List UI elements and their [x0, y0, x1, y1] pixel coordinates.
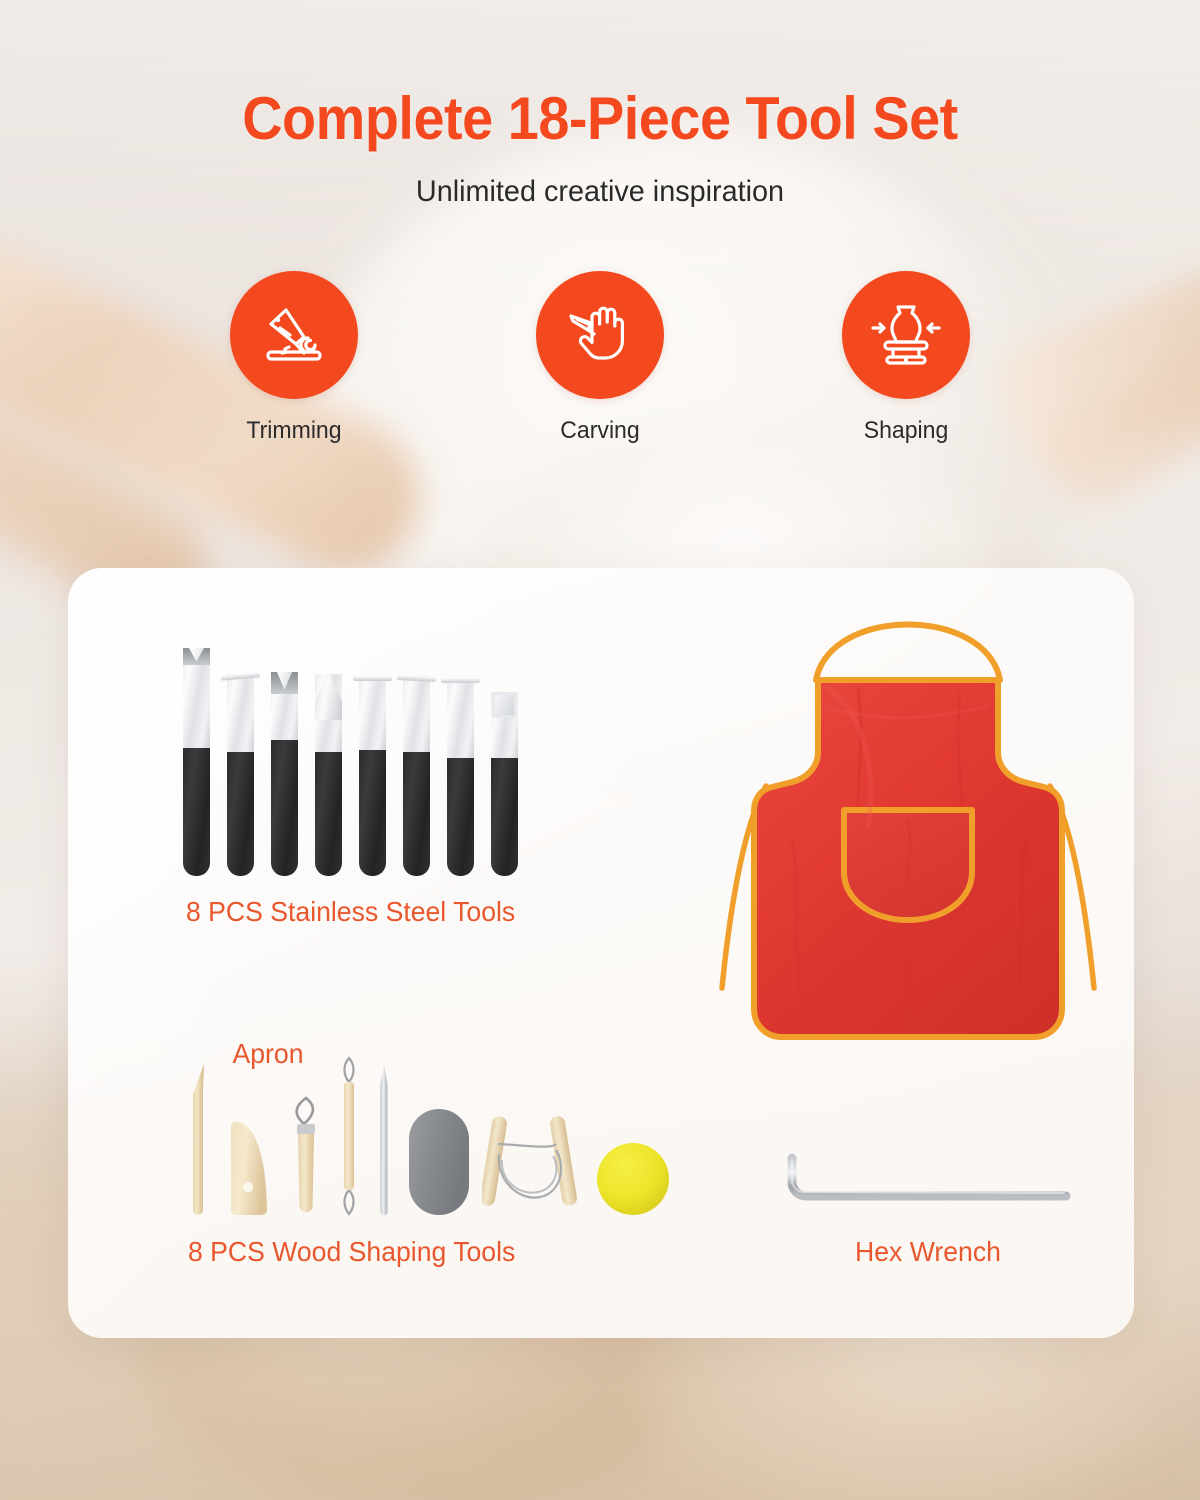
wood-tool-yellow-round-sponge — [596, 1142, 670, 1221]
tool-handle — [227, 752, 254, 876]
wood-tools-caption: 8 PCS Wood Shaping Tools — [188, 1236, 515, 1268]
tool-handle — [183, 748, 210, 876]
square-loop-tip — [492, 692, 517, 718]
carving-hand-knife-icon — [561, 296, 639, 374]
blade — [447, 678, 474, 758]
tool-handle — [315, 752, 342, 876]
tool-handle — [491, 758, 518, 876]
wood-tools-row — [186, 1058, 656, 1223]
wood-tool-needle-tool — [376, 1064, 392, 1221]
blade — [491, 692, 518, 758]
wood-tools-group — [186, 1058, 656, 1223]
wood-tool-curved-wood-rib — [226, 1114, 272, 1221]
wood-tool-gray-rubber-rib — [408, 1108, 470, 1221]
pointed-stylus-shape — [186, 1064, 216, 1216]
tool-handle — [447, 758, 474, 876]
feature-label-shaping: Shaping — [829, 417, 983, 445]
feature-icon-circle — [230, 271, 358, 399]
wire-cutter-shape — [482, 1110, 580, 1216]
sponge-shape — [596, 1142, 670, 1216]
wood-tool-wire-clay-cutter — [482, 1110, 580, 1221]
product-contents-card: 8 PCS Stainless Steel Tools — [68, 568, 1134, 1338]
shaping-vase-wheel-icon — [867, 296, 945, 374]
feature-icon-circle — [842, 271, 970, 399]
feature-label-trimming: Trimming — [217, 417, 371, 445]
blade — [403, 676, 430, 752]
steel-tools-caption: 8 PCS Stainless Steel Tools — [186, 896, 515, 928]
steel-tool-square-loop-trimmer — [491, 636, 518, 876]
steel-tool-wide-ribbon-chisel — [447, 636, 474, 876]
feature-shaping: Shaping — [826, 271, 986, 445]
tool-handle — [271, 740, 298, 876]
hex-wrench-caption: Hex Wrench — [738, 1236, 1118, 1268]
wood-tool-pointed-wood-stylus — [186, 1064, 216, 1221]
steel-tool-square-ribbon-chisel — [403, 636, 430, 876]
blade — [315, 674, 342, 752]
blade — [359, 676, 386, 750]
hex-wrench-shape — [768, 1138, 1088, 1228]
page-title: Complete 18-Piece Tool Set — [42, 84, 1158, 153]
blade-body — [227, 674, 254, 752]
hex-wrench-image — [768, 1138, 1088, 1228]
blade — [227, 674, 254, 752]
page-subtitle: Unlimited creative inspiration — [24, 175, 1176, 209]
steel-tool-angled-flat-chisel — [227, 636, 254, 876]
double-wire-tool-shape — [338, 1056, 360, 1216]
feature-label-carving: Carving — [523, 417, 677, 445]
steel-tool-spear-point-knife — [315, 636, 342, 876]
flat-crossbar-tip — [353, 676, 392, 681]
rubber-rib-shape — [408, 1108, 470, 1216]
blade-body — [403, 676, 430, 752]
feature-list: Trimming Carving — [0, 271, 1200, 445]
wood-tool-wire-loop-trimming-tool — [289, 1084, 323, 1221]
steel-tool-v-notch-trimmer-wide — [271, 636, 298, 876]
steel-tool-v-notch-trimmer — [183, 636, 210, 876]
header: Complete 18-Piece Tool Set Unlimited cre… — [0, 0, 1200, 209]
product-infographic: Complete 18-Piece Tool Set Unlimited cre… — [0, 0, 1200, 1500]
feature-carving: Carving — [520, 271, 680, 445]
apron-shape — [708, 588, 1108, 1058]
loop-tool-shape — [289, 1084, 323, 1216]
feature-icon-circle — [536, 271, 664, 399]
apron-image — [708, 588, 1108, 1058]
curved-rib-shape — [226, 1114, 272, 1216]
wood-tool-double-ended-wire-tool — [338, 1056, 360, 1221]
needle-tool-shape — [376, 1064, 392, 1216]
trimming-knife-icon — [256, 297, 332, 373]
blade — [271, 672, 298, 740]
tool-handle — [359, 750, 386, 876]
apron-caption: Apron — [78, 1038, 458, 1070]
steel-tools-group — [183, 636, 653, 876]
feature-trimming: Trimming — [214, 271, 374, 445]
blade — [183, 648, 210, 748]
steel-tool-flat-ribbon-chisel — [359, 636, 386, 876]
blade-body — [447, 678, 474, 758]
steel-tools-row — [183, 636, 653, 876]
tool-handle — [403, 752, 430, 876]
flat-crossbar-tip — [441, 678, 480, 683]
blade-body — [359, 676, 386, 750]
